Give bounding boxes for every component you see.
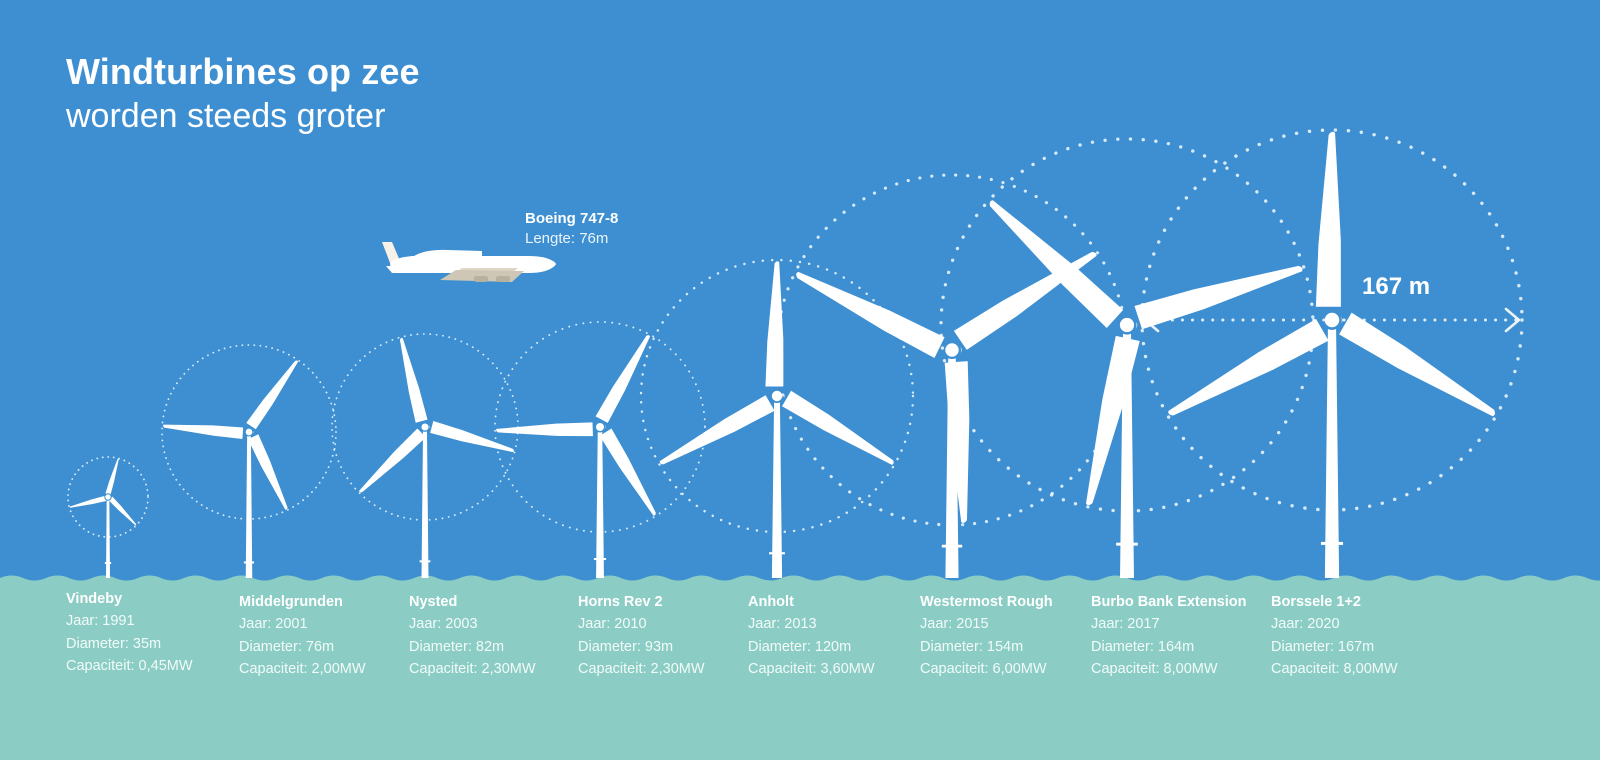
rotor-blade [600, 429, 663, 518]
turbine-westermost-rough [777, 175, 1127, 578]
rotor-blade [394, 337, 428, 423]
turbine-borssele-1-2 [1142, 130, 1522, 578]
turbine-caption-name: Nysted [409, 591, 536, 613]
rotor-hub [245, 428, 253, 436]
turbine-nysted [332, 334, 518, 578]
rotor-blade [596, 331, 654, 423]
turbine-caption: Horns Rev 2Jaar: 2010Diameter: 93mCapaci… [578, 591, 705, 681]
rotor-hub [1119, 317, 1136, 334]
turbine-caption-capacity: Capaciteit: 6,00MW [920, 658, 1053, 681]
turbine-caption-year: Jaar: 2013 [748, 613, 875, 636]
turbine-caption-diameter: Diameter: 35m [66, 633, 193, 656]
turbine-caption-capacity: Capaciteit: 3,60MW [748, 658, 875, 681]
infographic-canvas: Windturbines op zee worden steeds groter… [0, 0, 1600, 760]
turbine-caption: Westermost RoughJaar: 2015Diameter: 154m… [920, 591, 1053, 681]
turbine-caption-capacity: Capaciteit: 8,00MW [1271, 658, 1398, 681]
rotor-hub [944, 342, 960, 358]
turbine-caption-list: VindebyJaar: 1991Diameter: 35mCapaciteit… [0, 588, 1600, 708]
turbine-caption: NystedJaar: 2003Diameter: 82mCapaciteit:… [409, 591, 536, 681]
turbine-caption-capacity: Capaciteit: 8,00MW [1091, 658, 1247, 681]
turbine-caption-capacity: Capaciteit: 2,30MW [578, 658, 705, 681]
rotor-blade [1339, 313, 1503, 422]
rotor-hub [421, 423, 429, 431]
rotor-blade [765, 261, 783, 386]
turbine-caption: AnholtJaar: 2013Diameter: 120mCapaciteit… [748, 591, 875, 681]
turbine-caption-year: Jaar: 2001 [239, 613, 366, 636]
rotor-blade [782, 391, 899, 469]
title-line-2: worden steeds groter [66, 94, 420, 138]
turbine-caption-year: Jaar: 2015 [920, 613, 1053, 636]
turbine-caption: MiddelgrundenJaar: 2001Diameter: 76mCapa… [239, 591, 366, 681]
airplane-label: Boeing 747-8 Lengte: 76m [525, 209, 618, 249]
turbine-caption-name: Horns Rev 2 [578, 591, 705, 613]
turbine-middelgrunden [162, 345, 336, 578]
turbine-tower [422, 427, 429, 578]
rotor-blade [248, 434, 293, 511]
tower-collar [942, 545, 962, 548]
rotor-blade [1134, 253, 1304, 329]
turbine-tower [246, 432, 253, 578]
tower-collar [1116, 543, 1138, 546]
rotor-blade [657, 395, 774, 473]
turbine-caption-capacity: Capaciteit: 0,45MW [66, 655, 193, 678]
rotor-blade [69, 496, 106, 511]
tower-collar [594, 558, 606, 560]
turbine-caption-name: Burbo Bank Extension [1091, 591, 1247, 613]
turbine-caption-capacity: Capaciteit: 2,30MW [409, 658, 536, 681]
turbine-tower [772, 396, 782, 578]
rotor-blade [105, 458, 120, 495]
rotor-blade [109, 497, 139, 527]
airplane-length: Lengte: 76m [525, 229, 618, 249]
turbine-caption-name: Middelgrunden [239, 591, 366, 613]
tower-collar [105, 562, 111, 564]
turbine-horns-rev-2 [495, 322, 705, 578]
rotor-blade [1316, 132, 1341, 307]
tower-collar [244, 561, 254, 563]
turbine-caption-diameter: Diameter: 93m [578, 636, 705, 659]
rotor-hub [1323, 311, 1340, 328]
turbine-caption-diameter: Diameter: 167m [1271, 636, 1398, 659]
airplane-name: Boeing 747-8 [525, 209, 618, 229]
turbine-tower [596, 427, 604, 578]
turbine-caption-diameter: Diameter: 82m [409, 636, 536, 659]
turbine-caption: Burbo Bank ExtensionJaar: 2017Diameter: … [1091, 591, 1247, 681]
turbine-caption-name: Anholt [748, 591, 875, 613]
turbine-vindeby [68, 457, 148, 578]
turbine-caption-year: Jaar: 2017 [1091, 613, 1247, 636]
rotor-blade [430, 421, 516, 455]
turbine-caption-year: Jaar: 2010 [578, 613, 705, 636]
rotor-blade [357, 429, 426, 498]
turbine-caption-year: Jaar: 2020 [1271, 613, 1398, 636]
turbine-caption-diameter: Diameter: 164m [1091, 636, 1247, 659]
rotor-blade [496, 422, 593, 439]
turbine-caption-name: Vindeby [66, 588, 193, 610]
diameter-annotation-label: 167 m [1362, 273, 1430, 301]
rotor-blade [1165, 319, 1329, 428]
turbine-caption-name: Westermost Rough [920, 591, 1053, 613]
rotor-hub [595, 422, 604, 431]
turbine-tower [106, 497, 110, 578]
arrow-right-icon [1506, 309, 1519, 331]
turbine-caption-diameter: Diameter: 76m [239, 636, 366, 659]
rotor-blade [246, 356, 300, 429]
turbine-caption-year: Jaar: 1991 [66, 610, 193, 633]
page-title: Windturbines op zee worden steeds groter [66, 50, 420, 138]
rotor-blade [163, 422, 244, 439]
turbine-caption-capacity: Capaciteit: 2,00MW [239, 658, 366, 681]
tower-collar [769, 552, 785, 554]
turbine-caption-year: Jaar: 2003 [409, 613, 536, 636]
turbine-caption-diameter: Diameter: 120m [748, 636, 875, 659]
title-line-1: Windturbines op zee [66, 50, 420, 94]
turbine-caption: VindebyJaar: 1991Diameter: 35mCapaciteit… [66, 588, 193, 678]
rotor-hub [105, 494, 111, 500]
turbine-caption-diameter: Diameter: 154m [920, 636, 1053, 659]
turbine-caption: Borssele 1+2Jaar: 2020Diameter: 167mCapa… [1271, 591, 1398, 681]
rotor-hub [771, 390, 783, 402]
turbine-caption-name: Borssele 1+2 [1271, 591, 1398, 613]
tower-collar [420, 560, 431, 562]
tower-collar [1321, 542, 1343, 545]
turbine-tower [1325, 320, 1339, 578]
rotor-blade [790, 267, 945, 358]
